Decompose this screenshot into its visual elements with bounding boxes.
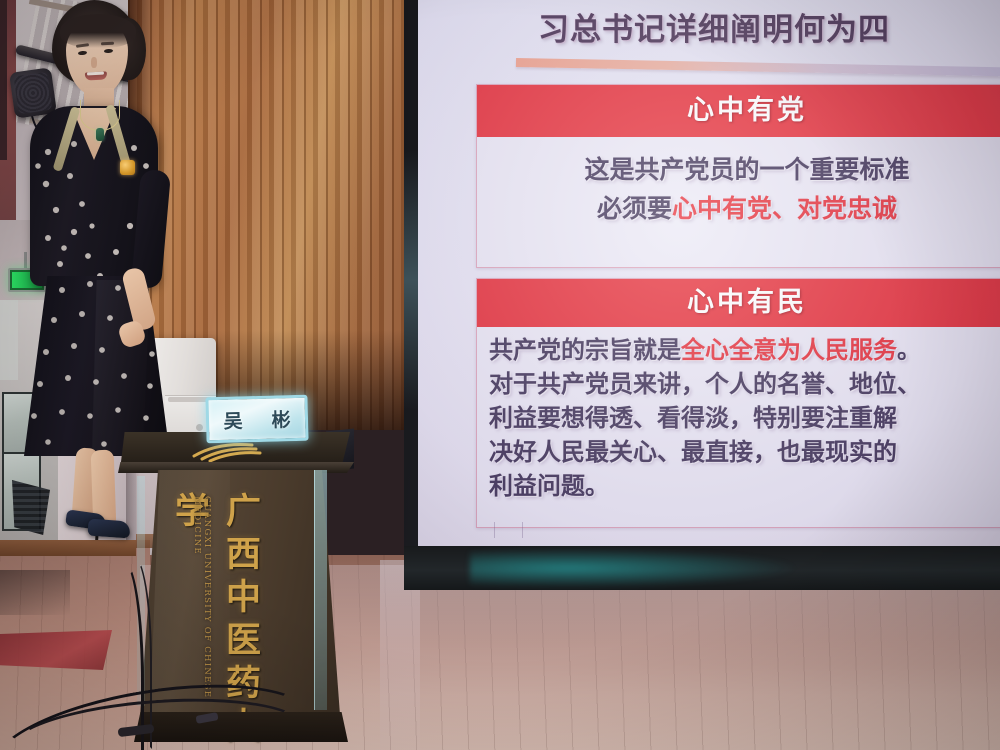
card-body: 共产党的宗旨就是全心全意为人民服务。 对于共产党员来讲，个人的名誉、地位、 利益…	[477, 327, 1000, 503]
card-body-line: 这是共产党员的一个重要标准	[487, 151, 1000, 190]
highlight-text: 全心全意为人民服务	[681, 336, 897, 364]
slide-card-xinzhongyoudang: 心中有党 这是共产党员的一个重要标准 必须要心中有党、对党忠诚	[476, 84, 1000, 268]
card-body-line: 对于共产党员来讲，个人的名誉、地位、	[489, 367, 1000, 401]
screen-teal-reflection	[470, 548, 800, 588]
speaker-nameplate: 吴 彬	[205, 395, 308, 444]
red-floor-mat	[0, 630, 112, 670]
slide-card-xinzhongyoumin: 心中有民 共产党的宗旨就是全心全意为人民服务。 对于共产党员来讲，个人的名誉、地…	[476, 278, 1000, 528]
stage-light-par-lens	[14, 72, 53, 114]
speaker-shoe-right	[87, 519, 130, 539]
floor-shadow	[0, 570, 70, 615]
speaker-jade-pendant	[96, 128, 104, 141]
presentation-slide: 习总书记详细阐明何为四 心中有党 这是共产党员的一个重要标准 必须要心中有党、对…	[418, 0, 1000, 546]
nameplate-char-given: 彬	[271, 405, 291, 432]
air-conditioner-button[interactable]	[196, 424, 203, 431]
slide-tick-mark	[494, 522, 495, 538]
party-emblem-pin	[120, 160, 135, 175]
baseboard	[0, 540, 136, 556]
slide-tick-mark	[522, 522, 523, 538]
speaker-hair-fringe	[60, 14, 136, 48]
card-body-line: 利益要想得透、看得淡，特别要注重解	[489, 401, 1000, 435]
highlight-text: 心中有党、对党忠诚	[672, 194, 897, 223]
nameplate-char-surname: 吴	[223, 406, 243, 433]
photograph-scene: 习总书记详细阐明何为四 心中有党 这是共产党员的一个重要标准 必须要心中有党、对…	[0, 0, 1000, 750]
card-body-line: 利益问题。	[489, 469, 1000, 503]
slide-title: 习总书记详细阐明何为四	[538, 4, 1000, 49]
window-pane-upper	[0, 300, 18, 380]
card-body-line: 共产党的宗旨就是全心全意为人民服务。	[489, 333, 1000, 367]
speaker-nose	[91, 57, 97, 68]
card-body-line: 必须要心中有党、对党忠诚	[487, 190, 1000, 229]
speaker-necklace	[80, 100, 120, 131]
left-wall-edge-dark	[0, 0, 7, 160]
podium-glass-rail-right	[314, 470, 327, 710]
podium-gold-emblem	[188, 440, 268, 462]
card-heading: 心中有党	[477, 85, 1000, 137]
card-heading: 心中有民	[477, 279, 1000, 327]
title-divider-bar	[516, 58, 1000, 77]
card-body-line: 决好人民最关心、最直接，也最现实的	[489, 435, 1000, 469]
card-body: 这是共产党员的一个重要标准 必须要心中有党、对党忠诚	[477, 137, 1000, 229]
